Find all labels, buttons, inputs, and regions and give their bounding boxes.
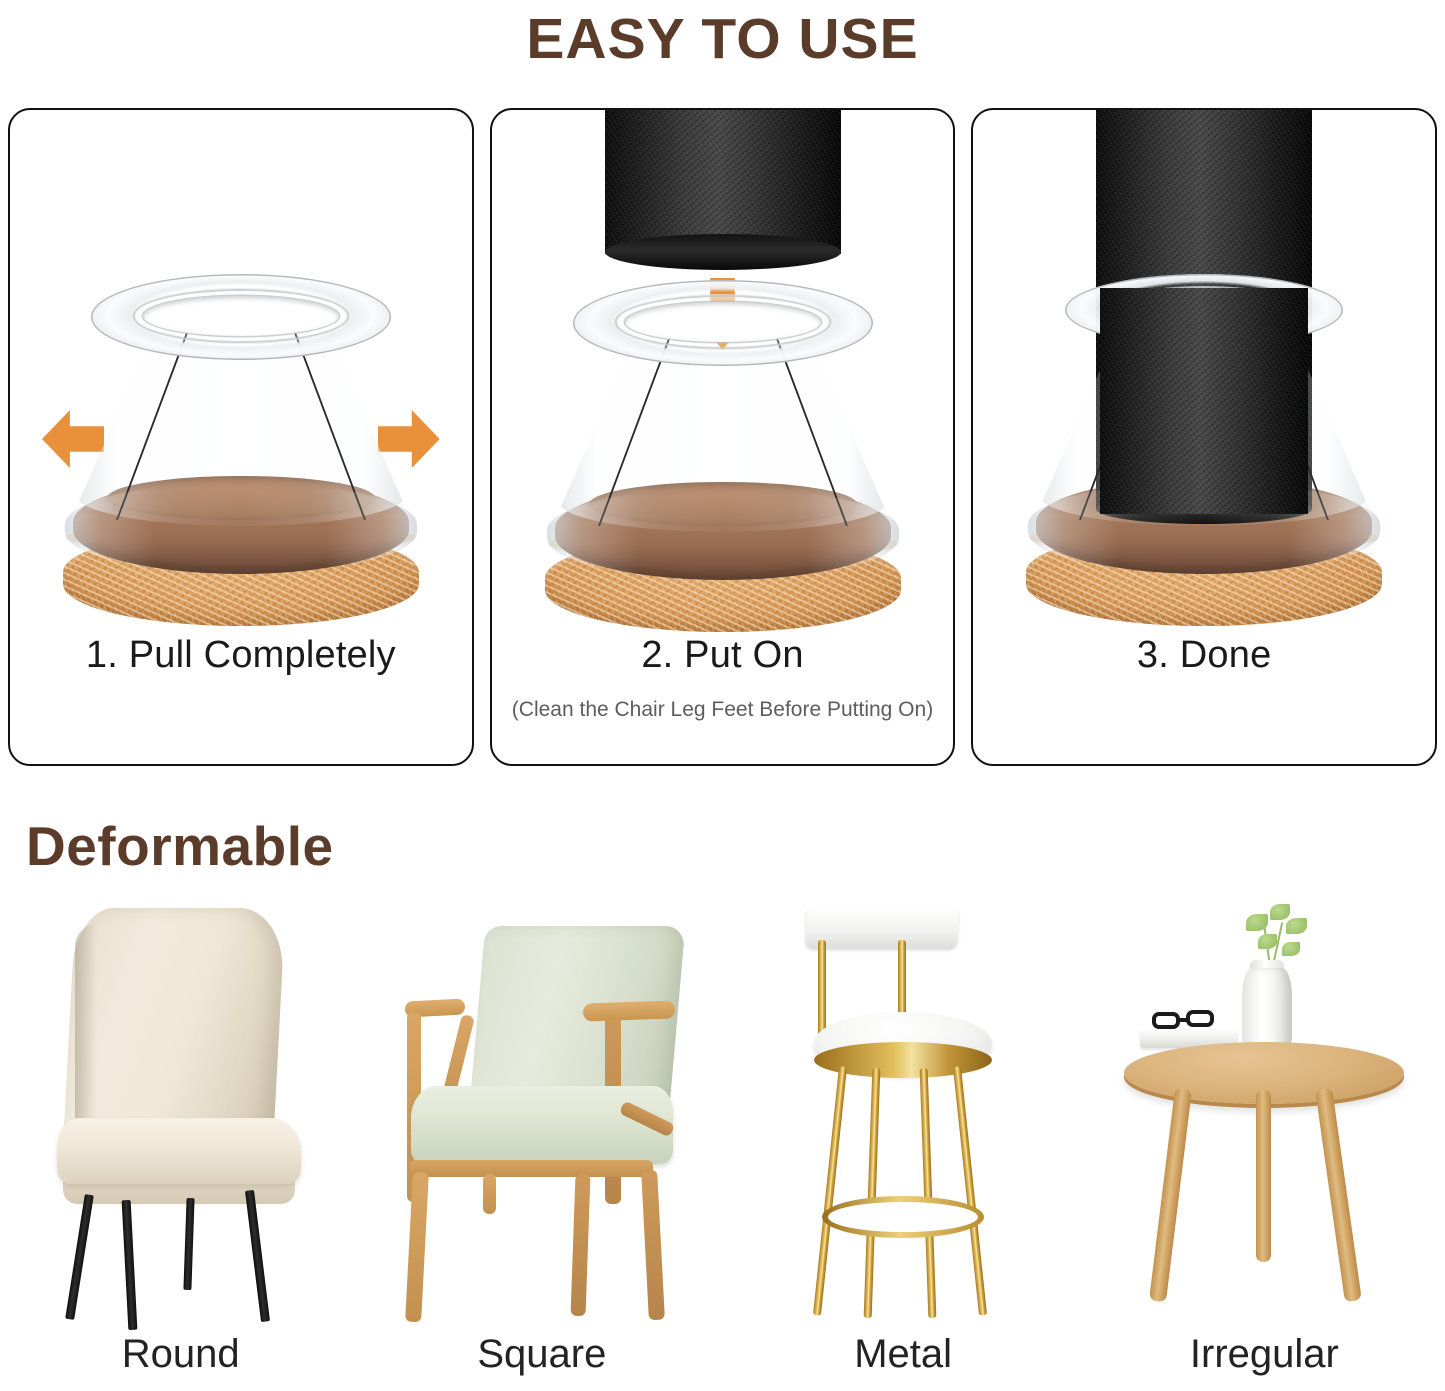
furniture-item-irregular (1084, 900, 1445, 1330)
eyeglasses-lens-left (1152, 1012, 1180, 1029)
stool-leg (864, 1068, 881, 1318)
furniture-label-round: Round (0, 1332, 361, 1377)
stool-leg (920, 1068, 937, 1318)
furniture-label-square: Square (361, 1332, 722, 1377)
step-2-subcaption: (Clean the Chair Leg Feet Before Putting… (492, 698, 954, 722)
furniture-leg-black-front (1100, 288, 1308, 514)
plant-leaf (1246, 914, 1268, 931)
table-leg (1316, 1088, 1363, 1302)
stool-backrest (805, 906, 958, 948)
furniture-row (0, 900, 1445, 1330)
chair-seat-cushion (57, 1118, 301, 1184)
cap-opening (625, 302, 821, 342)
chair-leg (245, 1190, 270, 1322)
chair-leg (65, 1194, 94, 1320)
stool-leg (953, 1066, 987, 1315)
furniture-item-square (361, 900, 722, 1330)
wood-armchair-illustration (387, 926, 697, 1326)
furniture-item-round (0, 900, 361, 1330)
silicone-cap-illustration (10, 110, 472, 640)
armchair-seat-cushion (411, 1086, 673, 1164)
chair-back-shadow (75, 924, 97, 1139)
furniture-label-metal: Metal (723, 1332, 1084, 1377)
table-leg (1256, 1090, 1271, 1262)
step-1-illustration (10, 110, 472, 640)
silicone-cap-illustration (492, 110, 954, 640)
furniture-item-metal (723, 900, 1084, 1330)
gold-bar-stool-illustration (788, 906, 1018, 1330)
step-panel-3: 3. Done (971, 108, 1437, 766)
chair-leg (183, 1198, 194, 1290)
plant-leaf (1286, 918, 1307, 934)
stool-back-post-right (898, 940, 906, 1020)
step-panel-2: 2. Put On (Clean the Chair Leg Feet Befo… (490, 108, 956, 766)
stool-footrest-ring (822, 1196, 984, 1238)
armchair-leg (570, 1174, 590, 1316)
wood-side-table-illustration (1114, 900, 1414, 1330)
stool-back-post-left (818, 940, 826, 1036)
armchair-leg (641, 1170, 665, 1321)
armchair-stretcher (483, 1174, 496, 1214)
eyeglasses-lens-right (1186, 1010, 1214, 1027)
step-3-caption: 3. Done (973, 634, 1435, 677)
furniture-labels-row: Round Square Metal Irregular (0, 1332, 1445, 1377)
armchair-front-rail (409, 1160, 653, 1177)
plant-leaf (1270, 904, 1290, 920)
step-2-illustration (492, 110, 954, 640)
armchair-arm-right (583, 1000, 676, 1021)
page-title: EASY TO USE (0, 0, 1445, 76)
cap-opening (143, 296, 339, 336)
deformable-title: Deformable (26, 814, 334, 878)
step-3-illustration (973, 110, 1435, 640)
step-panel-1: 1. Pull Completely (8, 108, 474, 766)
table-leg (1149, 1088, 1192, 1302)
furniture-label-irregular: Irregular (1084, 1332, 1445, 1377)
plant-leaf (1282, 942, 1300, 956)
white-vase (1242, 968, 1292, 1050)
stool-leg (813, 1066, 847, 1315)
step-2-caption: 2. Put On (492, 634, 954, 677)
cream-dining-chair-illustration (41, 908, 321, 1328)
steps-row: 1. Pull Completely 2. Put On (Clean the … (8, 108, 1437, 766)
plant-leaf (1258, 934, 1277, 949)
step-1-caption: 1. Pull Completely (10, 634, 472, 677)
